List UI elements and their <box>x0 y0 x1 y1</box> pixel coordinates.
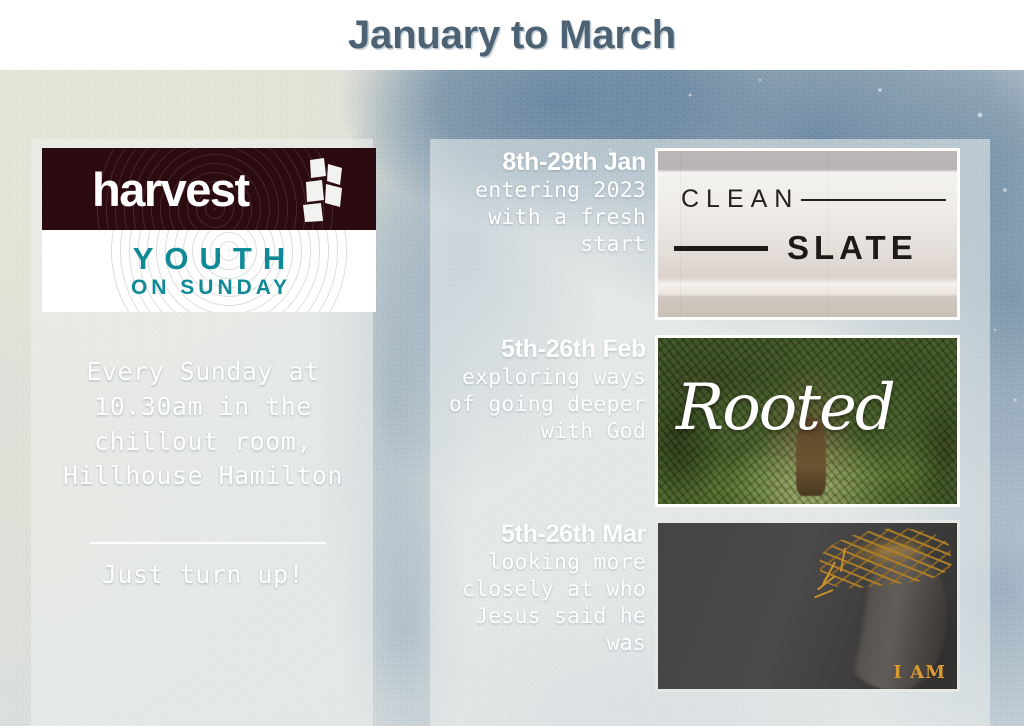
call-to-action: Just turn up! <box>42 560 364 589</box>
harvest-subtitle-area: YOUTH ON SUNDAY <box>42 230 376 312</box>
slide-root: January to March harvest YOUTH ON SUNDAY… <box>0 0 1024 726</box>
slate-rule <box>674 246 768 251</box>
harvest-wordmark-bar: harvest <box>42 148 376 230</box>
i-am-artwork: I AM <box>655 520 960 692</box>
meeting-details: Every Sunday at 10.30am in the chillout … <box>42 355 364 494</box>
series-row: 8th-29th Jan entering 2023 with a fresh … <box>440 148 960 320</box>
series-description: exploring ways of going deeper with God <box>440 365 646 446</box>
clean-line: CLEAN <box>674 185 946 214</box>
slate-line: SLATE <box>674 229 946 267</box>
clean-word: CLEAN <box>674 185 799 214</box>
series-row: 5th-26th Mar looking more closely at who… <box>440 520 960 692</box>
rooted-word: Rooted <box>676 376 894 440</box>
i-am-label: I AM <box>893 662 946 683</box>
series-dates: 5th-26th Mar <box>440 520 646 548</box>
series-text-block: 8th-29th Jan entering 2023 with a fresh … <box>440 148 655 259</box>
rooted-artwork: Rooted <box>655 335 960 507</box>
wheat-sheaf-icon <box>286 158 344 222</box>
series-text-block: 5th-26th Mar looking more closely at who… <box>440 520 655 658</box>
left-panel-divider <box>90 542 326 544</box>
clean-rule <box>801 199 946 201</box>
clean-slate-artwork: CLEAN SLATE <box>655 148 960 320</box>
series-description: entering 2023 with a fresh start <box>440 178 646 259</box>
harvest-logo-block: harvest YOUTH ON SUNDAY <box>42 148 376 312</box>
series-row: 5th-26th Feb exploring ways of going dee… <box>440 335 960 507</box>
series-description: looking more closely at who Jesus said h… <box>440 550 646 658</box>
on-sunday-label: ON SUNDAY <box>127 276 291 299</box>
slate-word: SLATE <box>782 229 918 267</box>
page-title: January to March <box>348 13 676 58</box>
youth-label: YOUTH <box>122 243 297 276</box>
harvest-wordmark: harvest <box>92 166 249 213</box>
header-bar: January to March <box>0 0 1024 70</box>
series-dates: 5th-26th Feb <box>440 335 646 363</box>
series-dates: 8th-29th Jan <box>440 148 646 176</box>
series-text-block: 5th-26th Feb exploring ways of going dee… <box>440 335 655 446</box>
